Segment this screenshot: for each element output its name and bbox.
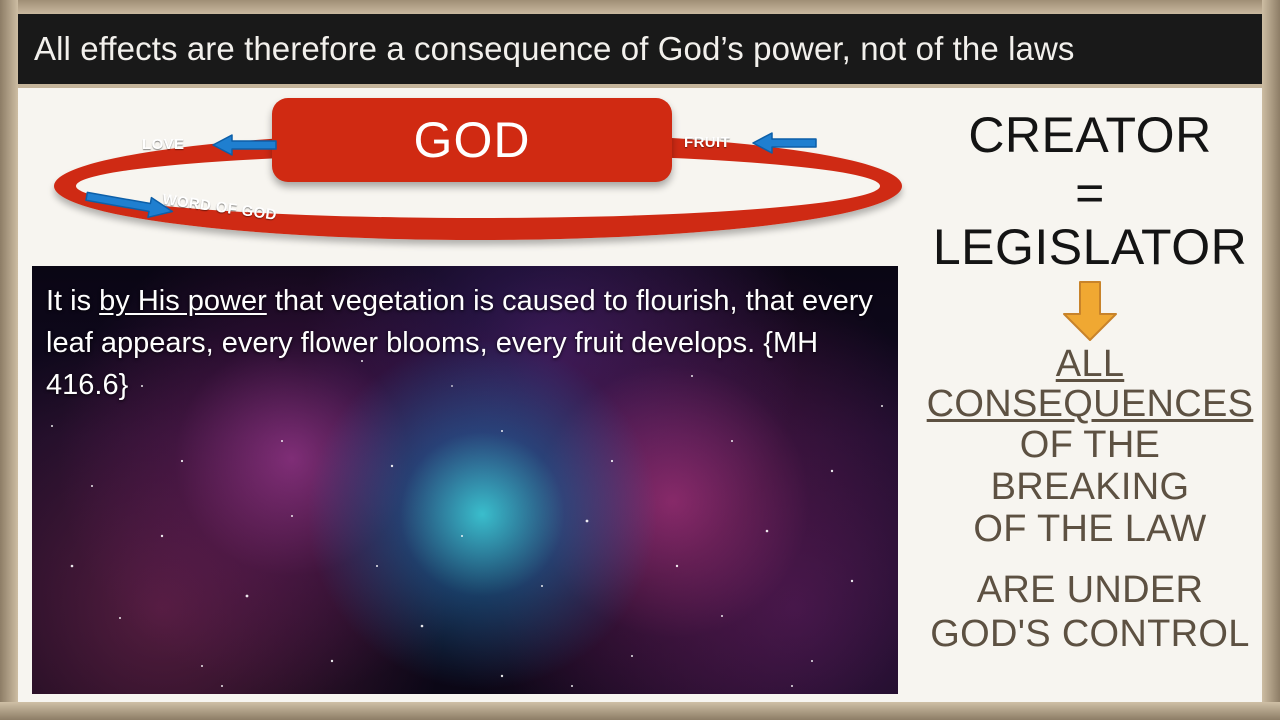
title-bar: All effects are therefore a consequence …: [18, 14, 1262, 84]
slide-title: All effects are therefore a consequence …: [18, 30, 1075, 68]
frame-right-edge: [1262, 0, 1280, 720]
of-the-breaking-label: OF THE BREAKING: [918, 424, 1262, 508]
frame-top-edge: [0, 0, 1280, 14]
arrow-down-icon: [1058, 280, 1122, 342]
slide: All effects are therefore a consequence …: [0, 0, 1280, 720]
right-column: CREATOR = LEGISLATOR ALL CONSEQUENCES OF…: [918, 94, 1262, 694]
content-panel: GOD LOVE FRUIT WORD OF GOD: [18, 88, 1262, 702]
all-label: ALL: [918, 344, 1262, 384]
god-box: GOD: [272, 98, 672, 182]
quote-text: It is by His power that vegetation is ca…: [46, 280, 882, 406]
nebula-image: It is by His power that vegetation is ca…: [32, 266, 898, 694]
are-under-label: ARE UNDER: [918, 568, 1262, 612]
frame-left-edge: [0, 0, 18, 720]
quote-underlined: by His power: [99, 285, 267, 317]
frame-bottom-edge: [0, 702, 1280, 720]
arrow-left-icon-fruit: [750, 132, 818, 154]
creator-heading: CREATOR: [918, 108, 1262, 162]
god-label: GOD: [414, 111, 531, 169]
gods-control-label: GOD'S CONTROL: [918, 612, 1262, 656]
of-the-law-label: OF THE LAW: [918, 508, 1262, 550]
quote-prefix: It is: [46, 285, 99, 317]
consequences-label: CONSEQUENCES: [918, 384, 1262, 424]
label-fruit: FRUIT: [684, 134, 730, 151]
cycle-diagram: GOD LOVE FRUIT WORD OF GOD: [32, 96, 912, 256]
arrow-left-icon-love: [210, 134, 278, 156]
legislator-heading: = LEGISLATOR: [918, 166, 1262, 274]
label-love: LOVE: [142, 136, 184, 153]
